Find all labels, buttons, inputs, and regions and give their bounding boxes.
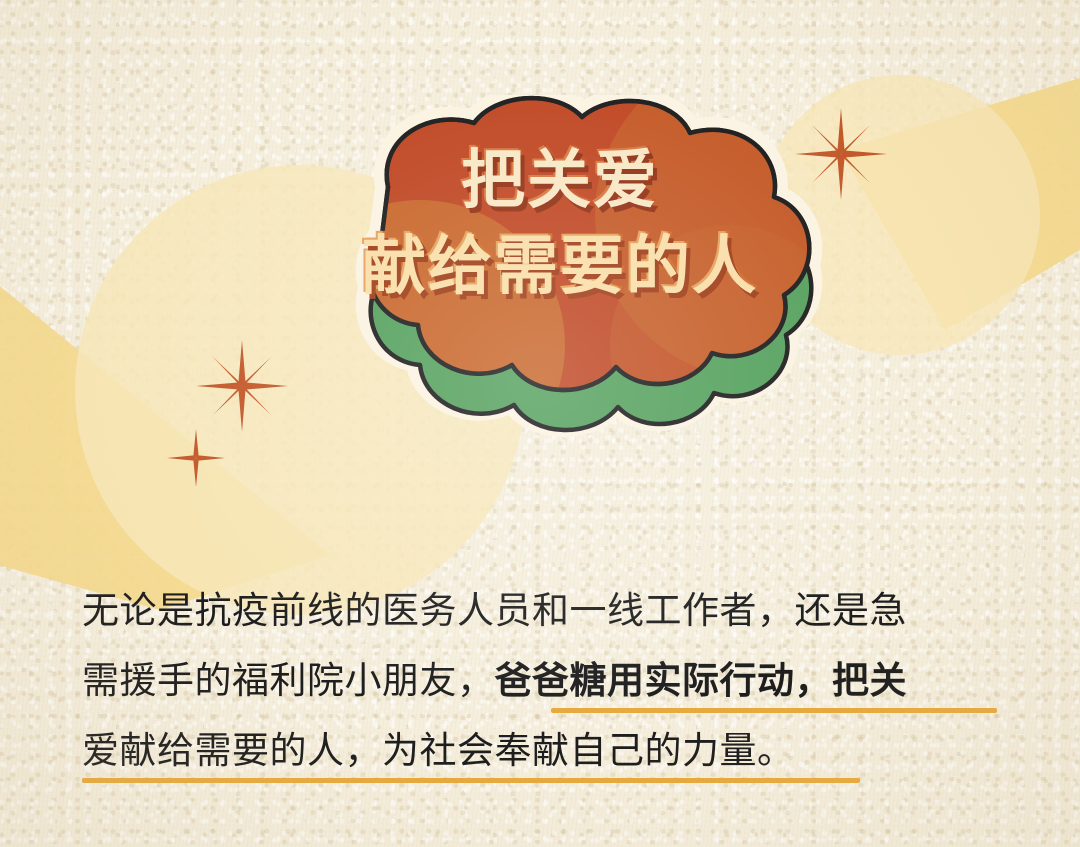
headline-blob-graphic bbox=[260, 95, 860, 455]
body-line-1: 无论是抗疫前线的医务人员和一线工作者，还是急 bbox=[82, 576, 998, 646]
sparkle-8point-icon-top-right bbox=[795, 108, 887, 205]
body-underline-segment-1 bbox=[551, 708, 997, 713]
body-line-2-highlight: 爸爸糖用实际行动，把关 bbox=[495, 659, 908, 702]
body-line-3: 爱献给需要的人，为社会奉献自己的力量。 bbox=[82, 716, 998, 786]
body-underline-segment-2 bbox=[82, 778, 860, 783]
body-line-3-text: 爱献给需要的人，为社会奉献自己的力量。 bbox=[82, 729, 795, 772]
sparkle-8point-icon-bottom-left bbox=[196, 340, 288, 437]
sparkle-4point-icon-bottom-left bbox=[167, 429, 225, 492]
body-line-2: 需援手的福利院小朋友，爸爸糖用实际行动，把关 bbox=[82, 646, 998, 716]
body-paragraph: 无论是抗疫前线的医务人员和一线工作者，还是急 需援手的福利院小朋友，爸爸糖用实际… bbox=[82, 576, 998, 786]
body-line-2-plain: 需援手的福利院小朋友， bbox=[82, 659, 495, 702]
poster-canvas: 把关爱 献给需要的人 无论是抗疫前线的医务人员和一线工作者，还是急 需援手的福利… bbox=[0, 0, 1080, 847]
